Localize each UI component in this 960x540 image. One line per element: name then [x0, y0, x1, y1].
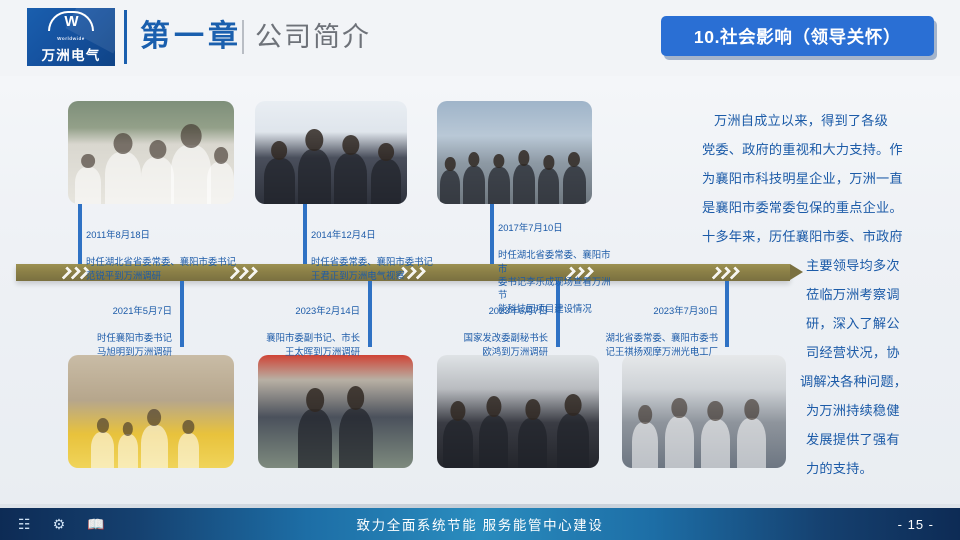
timeline-caption-2023-06: 2023年6月7日 国家发改委副秘书长 欧鸿到万洲调研	[428, 291, 548, 371]
photo-figures	[68, 140, 234, 204]
photo-figures	[437, 140, 592, 204]
photo-2017-site-visit	[437, 101, 592, 204]
slide-canvas: W Worldwide 万洲电气 第一章 公司简介 10.社会影响（领导关怀）	[0, 0, 960, 540]
chapter-title: 第一章	[140, 18, 242, 56]
header-accent-rule	[124, 10, 127, 64]
paragraph-line: 调解决各种问题，	[800, 367, 907, 396]
page-number: - 15 -	[898, 508, 934, 540]
slide-footer: ☷ ⚙ 📖 致力全面系统节能 服务能管中心建设 - 15 -	[0, 508, 960, 540]
paragraph-line: 十多年来，历任襄阳市委、市政府	[702, 222, 903, 251]
photo-figures	[258, 398, 413, 468]
timeline-caption-2023-02: 2023年2月14日 襄阳市委副书记、市长 王太晖到万洲调研	[228, 291, 360, 371]
paragraph-line: 为万洲持续稳健	[806, 396, 900, 425]
paragraph-line: 发展提供了强有	[806, 425, 900, 454]
timeline-connector	[490, 204, 494, 264]
photo-2014-inspection	[255, 101, 407, 204]
photo-2023-07-plant-tour	[622, 355, 786, 468]
paragraph-line: 为襄阳市科技明星企业，万洲一直	[702, 164, 903, 193]
photo-figures	[437, 398, 599, 468]
caption-date: 2014年12月4日	[311, 228, 436, 241]
paragraph-line: 是襄阳市委常委包保的重点企业。	[702, 193, 903, 222]
timeline-caption-2021: 2021年5月7日 时任襄阳市委书记 马旭明到万洲调研	[30, 291, 172, 371]
paragraph-line: 司经营状况，协	[806, 338, 900, 367]
timeline-connector	[303, 204, 307, 264]
photo-2011-inspection	[68, 101, 234, 204]
photo-2021-visit	[68, 355, 234, 468]
paragraph-line: 万洲自成立以来，得到了各级	[714, 106, 888, 135]
logo-sub-text: Worldwide	[57, 36, 85, 41]
timeline-caption-2014: 2014年12月4日 时任省委常委、襄阳市委书记 王君正到万洲电气视察	[311, 215, 436, 295]
company-logo: W Worldwide 万洲电气	[27, 8, 115, 66]
caption-text: 襄阳市委副书记、市长 王太晖到万洲调研	[228, 331, 360, 358]
timeline-connector	[78, 204, 82, 264]
caption-date: 2023年7月30日	[578, 304, 718, 317]
caption-date: 2021年5月7日	[30, 304, 172, 317]
page-title: 公司简介	[255, 19, 371, 55]
paragraph-line: 莅临万洲考察调	[806, 280, 900, 309]
timeline-connector	[725, 281, 729, 347]
caption-date: 2023年6月7日	[428, 304, 548, 317]
logo-w-emblem: W	[48, 11, 94, 35]
logo-letter: W	[48, 14, 94, 29]
photo-figures	[68, 398, 234, 468]
caption-date: 2023年2月14日	[228, 304, 360, 317]
paragraph-line: 党委、政府的重视和大力支持。作	[702, 135, 903, 164]
caption-date: 2017年7月10日	[498, 221, 618, 234]
photo-figures	[255, 140, 407, 204]
caption-text: 国家发改委副秘书长 欧鸿到万洲调研	[428, 331, 548, 358]
paragraph-line: 研，深入了解公	[806, 309, 900, 338]
logo-company-name: 万洲电气	[42, 44, 101, 64]
header-divider	[242, 20, 244, 54]
section-badge-label: 10.社会影响（领导关怀）	[694, 24, 901, 49]
timeline-caption-2023-07: 2023年7月30日 湖北省委常委、襄阳市委书 记王祺扬观摩万洲光电工厂	[578, 291, 718, 371]
footer-slogan: 致力全面系统节能 服务能管中心建设	[0, 508, 960, 540]
caption-text: 时任湖北省省委常委、襄阳市委书记 范锐平到万洲调研	[86, 255, 236, 282]
photo-2023-06-meeting	[437, 355, 599, 468]
caption-text: 湖北省委常委、襄阳市委书 记王祺扬观摩万洲光电工厂	[578, 331, 718, 358]
photo-figures	[622, 398, 786, 468]
paragraph-line: 力的支持。	[806, 454, 873, 483]
photo-2023-02-factory-visit	[258, 355, 413, 468]
caption-text: 时任省委常委、襄阳市委书记 王君正到万洲电气视察	[311, 255, 436, 282]
caption-date: 2011年8月18日	[86, 228, 236, 241]
timeline-caption-2011: 2011年8月18日 时任湖北省省委常委、襄阳市委书记 范锐平到万洲调研	[86, 215, 236, 295]
section-badge: 10.社会影响（领导关怀）	[661, 16, 934, 56]
slide-header: W Worldwide 万洲电气 第一章 公司简介 10.社会影响（领导关怀）	[0, 0, 960, 76]
caption-text: 时任襄阳市委书记 马旭明到万洲调研	[30, 331, 172, 358]
paragraph-line: 主要领导均多次	[806, 251, 900, 280]
